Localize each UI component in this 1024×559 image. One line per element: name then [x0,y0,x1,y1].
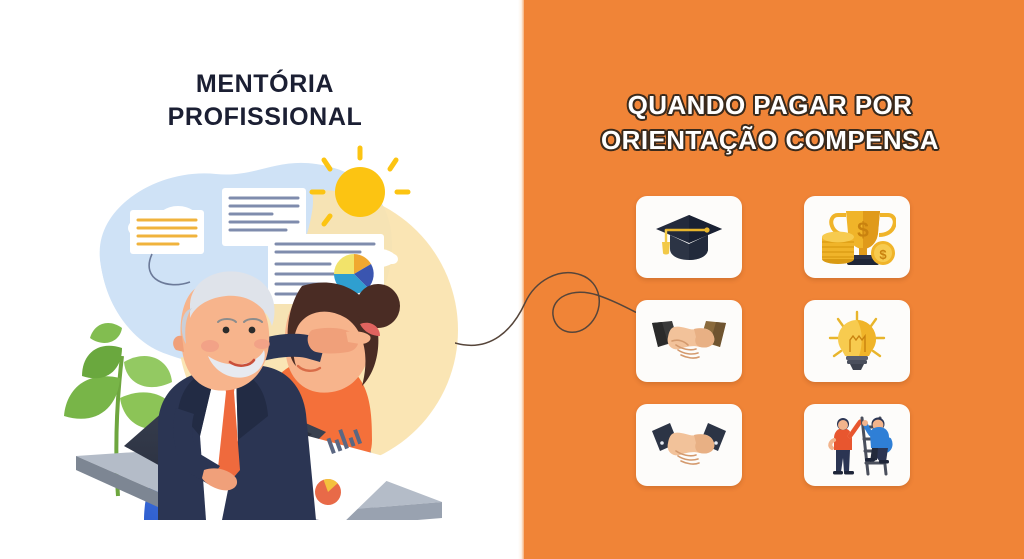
ladder-climb-icon [820,414,894,476]
mentor-session-illustration [40,140,510,520]
left-panel: MENTÓRIA PROFISSIONAL [0,0,522,559]
lightbulb-icon [826,310,888,372]
left-title-line1: MENTÓRIA [120,68,410,101]
single-coin: $ [871,241,895,265]
card-trophy-coins[interactable]: $ $ [804,196,910,278]
infographic-canvas: MENTÓRIA PROFISSIONAL [0,0,1024,559]
card-handshake[interactable] [636,300,742,382]
card-ladder-climb[interactable] [804,404,910,486]
card-handshake-formal[interactable] [636,404,742,486]
right-title-line2: ORIENTAÇÃO COMPENSA [560,123,980,158]
benefit-cards-grid: $ $ [636,196,910,486]
svg-text:$: $ [879,247,887,262]
card-graduation-cap[interactable] [636,196,742,278]
trophy-coins-icon: $ $ [818,207,896,267]
graduation-cap-icon [652,209,726,265]
coin-stack [822,232,854,264]
document-card-yellow [130,210,204,254]
card-lightbulb[interactable] [804,300,910,382]
handshake-icon [650,315,728,367]
right-title: QUANDO PAGAR POR ORIENTAÇÃO COMPENSA [560,88,980,158]
panel-divider [518,0,524,559]
right-title-line1: QUANDO PAGAR POR [560,88,980,123]
handshake-formal-icon [650,419,728,471]
left-title: MENTÓRIA PROFISSIONAL [120,68,410,134]
person-standing [830,418,861,475]
svg-text:$: $ [857,219,869,242]
left-title-line2: PROFISSIONAL [120,101,410,134]
